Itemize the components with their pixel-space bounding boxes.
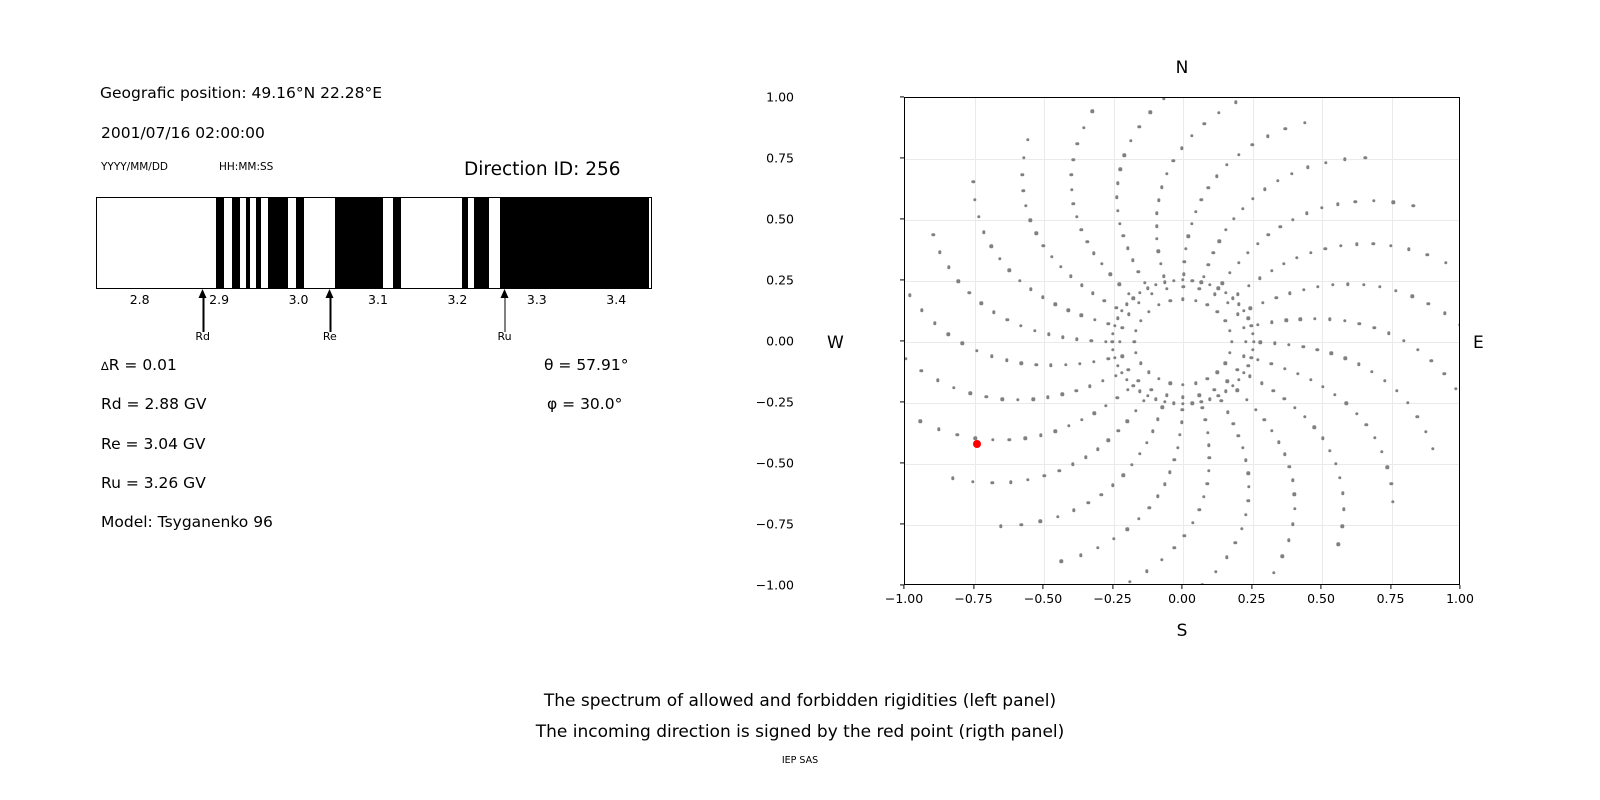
direction-point [1157,377,1160,380]
direction-point [1343,158,1346,161]
polar-y-tick-mark [900,523,904,524]
direction-point [1247,485,1250,488]
direction-point [1240,527,1243,530]
polar-y-tick-label: 0.50 [766,212,794,227]
direction-point [1231,384,1234,387]
direction-point [1334,462,1337,465]
direction-point [968,291,971,294]
param-text: R = 0.01 [109,356,177,374]
direction-point [1357,363,1360,366]
direction-point [1206,377,1209,380]
direction-point [937,428,940,431]
direction-point [1244,459,1247,462]
direction-point [1302,288,1305,291]
direction-point [1341,492,1344,495]
direction-point [1075,389,1078,392]
direction-point [1039,434,1042,437]
direction-point [1076,142,1079,145]
direction-point [1283,397,1286,400]
direction-point [1295,256,1298,259]
direction-point [1373,326,1376,329]
param-text: Model: Tsyganenko 96 [101,513,273,531]
direction-point [1293,493,1296,496]
polar-x-tick-label: −0.75 [954,591,992,606]
direction-point [1072,202,1075,205]
direction-point [1138,389,1141,392]
direction-point [1272,571,1275,574]
direction-point [1096,546,1099,549]
direction-point [1181,383,1184,386]
direction-point [1296,372,1299,375]
direction-point [1424,430,1427,433]
direction-point [1115,396,1118,399]
direction-point [1039,520,1042,523]
direction-point [1151,429,1154,432]
direction-point [1284,319,1287,322]
direction-point [1026,478,1029,481]
direction-point [1020,361,1023,364]
direction-point [936,379,939,382]
direction-point [1331,283,1334,286]
direction-point [1454,387,1457,390]
direction-point [1252,340,1255,343]
compass-label-south: S [1177,621,1188,641]
direction-point [1324,247,1327,250]
direction-point [1278,225,1281,228]
polar-y-tick-mark [900,157,904,158]
polar-y-tick-label: −0.25 [756,395,794,410]
direction-point [1228,329,1231,332]
direction-point [1270,429,1273,432]
direction-point [1079,554,1082,557]
direction-point [1246,251,1249,254]
direction-point [1333,393,1336,396]
direction-point [1128,580,1131,583]
direction-point [1154,397,1157,400]
gridline-horizontal [905,342,1459,343]
direction-point [1224,228,1227,231]
direction-point [1247,284,1250,287]
direction-point [1019,324,1022,327]
direction-point [1072,509,1075,512]
param-rd: Rd = 2.88 GV [101,395,207,413]
direction-point [1223,362,1226,365]
direction-point [1206,303,1209,306]
caption-line-1: The spectrum of allowed and forbidden ri… [0,686,1600,717]
param-prefix: ∆ [101,359,109,373]
direction-point [1116,209,1119,212]
direction-point [1287,538,1290,541]
direction-point [1277,440,1280,443]
direction-point [1291,479,1294,482]
direction-point [1324,161,1327,164]
direction-point [1059,265,1062,268]
direction-point [989,245,992,248]
direction-point [904,357,907,360]
direction-point [1218,240,1221,243]
direction-point [957,279,960,282]
direction-point [1251,348,1254,351]
polar-y-tick-mark [900,401,904,402]
direction-point [1200,280,1203,283]
direction-point [946,333,949,336]
direction-point [920,309,923,312]
direction-point [1155,237,1158,240]
direction-point [1033,329,1036,332]
direction-point [1281,555,1284,558]
polar-x-tick-mark [1112,585,1113,589]
direction-point [977,215,980,218]
direction-point [1202,275,1205,278]
param-text: Ru = 3.26 GV [101,474,206,492]
direction-point [1276,179,1279,182]
gridline-vertical [1392,98,1393,584]
direction-point [1172,159,1175,162]
direction-point [1273,342,1276,345]
direction-point [1241,207,1244,210]
direction-point [1147,310,1150,313]
direction-point [1107,322,1110,325]
direction-point [1267,233,1270,236]
direction-point [1032,397,1035,400]
time-format-hint: HH:MM:SS [219,161,273,173]
arrow-shaft [203,296,204,332]
direction-point [1338,476,1341,479]
direction-point [1191,402,1194,405]
direction-point [1430,359,1433,362]
gridline-vertical [1183,98,1184,584]
direction-point [1407,247,1410,250]
direction-point [1226,301,1229,304]
direction-point [1113,324,1116,327]
direction-point [1217,394,1220,397]
polar-x-tick-label: 0.75 [1377,591,1405,606]
direction-point [1057,469,1060,472]
direction-point [1244,340,1247,343]
caption-line-2: The incoming direction is signed by the … [0,717,1600,748]
direction-point [1263,188,1266,191]
direction-point [1162,97,1165,100]
direction-point [1197,394,1200,397]
gridline-vertical [975,98,976,584]
direction-point [1290,172,1293,175]
direction-point [1155,224,1158,227]
direction-point [1251,197,1254,200]
direction-point [1130,463,1133,466]
direction-point [1145,570,1148,573]
gridline-vertical [1322,98,1323,584]
polar-y-tick-mark [900,340,904,341]
direction-point [1101,379,1104,382]
direction-point [1005,318,1008,321]
direction-point [1343,319,1346,322]
direction-point [1412,204,1415,207]
direction-point [1346,282,1349,285]
direction-point [1134,409,1137,412]
direction-point [1127,313,1130,316]
geographic-position-label: Geografic position: 49.16°N 22.28°E [100,84,382,102]
direction-point [1046,396,1049,399]
direction-point [1254,408,1257,411]
direction-point [1054,302,1057,305]
forbidden-band [232,198,240,288]
polar-x-tick-mark [1181,585,1182,589]
direction-point [1208,456,1211,459]
direction-point [1302,345,1305,348]
polar-x-tick-label: 0.00 [1168,591,1196,606]
direction-scatter-plot [904,97,1460,585]
direction-point [931,233,934,236]
direction-point [1061,393,1064,396]
direction-point [1067,424,1070,427]
direction-point [1016,398,1019,401]
direction-point [1226,411,1229,414]
direction-point [1204,418,1207,421]
direction-point [1071,463,1074,466]
direction-point [1213,388,1216,391]
marker-re: Re [330,289,331,332]
direction-point [1160,558,1163,561]
direction-point [1316,348,1319,351]
marker-label: Rd [195,330,210,343]
direction-point [1181,285,1184,288]
direction-point [1178,433,1181,436]
direction-point [1049,364,1052,367]
forbidden-band [296,198,304,288]
compass-label-west: W [827,333,844,353]
direction-point [1091,110,1094,113]
direction-point [1106,357,1109,360]
param-text: Rd = 2.88 GV [101,395,207,413]
gridline-horizontal [905,159,1459,160]
direction-point [1080,418,1083,421]
polar-y-tick-mark [900,96,904,97]
direction-point [1459,323,1460,326]
polar-x-tick-label: 0.50 [1307,591,1335,606]
direction-point [1142,399,1145,402]
direction-point [1069,275,1072,278]
direction-point [1168,471,1171,474]
direction-point [1241,446,1244,449]
direction-point [1080,314,1083,317]
direction-point [1194,210,1197,213]
polar-y-tick-mark [900,218,904,219]
direction-point [1395,389,1398,392]
direction-point [1087,501,1090,504]
direction-point [1150,292,1153,295]
polar-y-tick-label: −1.00 [756,578,794,593]
direction-point [1443,311,1446,314]
direction-point [1181,396,1184,399]
direction-point [1225,163,1228,166]
direction-point [1093,318,1096,321]
direction-point [1126,247,1129,250]
polar-y-tick-label: −0.50 [756,456,794,471]
direction-point [1075,215,1078,218]
direction-point [1190,134,1193,137]
direction-point [1070,173,1073,176]
direction-point [1154,283,1157,286]
marker-label: Re [323,330,337,343]
param-ru: Ru = 3.26 GV [101,474,206,492]
direction-point [982,230,985,233]
direction-point [952,386,955,389]
direction-point [1059,560,1062,563]
direction-point [1092,360,1095,363]
selected-direction-point[interactable] [973,440,981,448]
direction-point [1215,174,1218,177]
direction-point [1137,379,1140,382]
direction-point [1047,333,1050,336]
direction-point [1187,235,1190,238]
direction-point [1131,258,1134,261]
direction-point [991,481,994,484]
direction-point [1156,418,1159,421]
direction-point [1391,500,1394,503]
gridline-horizontal [905,220,1459,221]
direction-point [1246,472,1249,475]
direction-point [1427,302,1430,305]
direction-point [1169,299,1172,302]
marker-ru: Ru [505,289,506,332]
direction-point [1248,375,1251,378]
direction-point [1287,343,1290,346]
direction-point [1067,308,1070,311]
direction-point [1118,340,1121,343]
compass-label-north: N [1176,58,1189,78]
direction-point [1008,269,1011,272]
direction-point [1118,222,1121,225]
direction-point [1416,415,1419,418]
direction-point [1316,285,1319,288]
direction-point [1224,389,1227,392]
direction-point [1406,401,1409,404]
direction-point [1080,228,1083,231]
direction-point [1217,287,1220,290]
polar-y-tick-label: 0.75 [766,151,794,166]
direction-point [1213,292,1216,295]
polar-x-tick-mark [1251,585,1252,589]
direction-point [1120,309,1123,312]
direction-point [1075,338,1078,341]
direction-point [1236,368,1239,371]
direction-point [1184,247,1187,250]
direction-point [1088,385,1091,388]
direction-point [1029,288,1032,291]
direction-point [1120,371,1123,374]
direction-point [1080,283,1083,286]
direction-point [1159,262,1162,265]
forbidden-band [474,198,488,288]
direction-point [1115,306,1118,309]
direction-point [1190,222,1193,225]
direction-point [1100,493,1103,496]
direction-point [1163,280,1166,283]
direction-point [1246,364,1249,367]
direction-point [1165,287,1168,290]
marker-rd: Rd [203,289,204,332]
direction-point [1117,429,1120,432]
direction-point [1138,291,1141,294]
direction-point [1236,293,1239,296]
direction-point [955,433,958,436]
direction-point [1341,525,1344,528]
direction-point [1134,329,1137,332]
direction-point [1070,188,1073,191]
direction-point [1131,297,1134,300]
direction-point [961,342,964,345]
direction-point [1005,359,1008,362]
footer-credit: IEP SAS [0,755,1600,766]
direction-point [918,420,921,423]
direction-point [1181,298,1184,301]
direction-point [1208,283,1211,286]
polar-x-tick-mark [1042,585,1043,589]
direction-point [1237,261,1240,264]
direction-point [1305,212,1308,215]
forbidden-band [335,198,383,288]
direction-point [1256,358,1259,361]
direction-point [1336,202,1339,205]
direction-point [1131,384,1134,387]
direction-point [1163,483,1166,486]
direction-point [1391,201,1394,204]
direction-point [1194,382,1197,385]
direction-point [1147,370,1150,373]
direction-point [1220,282,1223,285]
direction-point [1354,200,1357,203]
direction-point [1009,481,1012,484]
direction-point [1126,420,1129,423]
direction-point [1123,154,1126,157]
direction-point [1288,465,1291,468]
direction-point [991,438,994,441]
direction-point [1365,423,1368,426]
direction-point [985,395,988,398]
direction-point [1133,340,1136,343]
direction-point [1237,153,1240,156]
direction-point [1035,363,1038,366]
param-text: φ = 30.0° [547,395,622,413]
direction-point [1160,185,1163,188]
direction-point [1358,322,1361,325]
direction-point [1246,317,1249,320]
direction-point [1330,352,1333,355]
param-theta: θ = 57.91° [544,356,628,374]
direction-point [1103,299,1106,302]
direction-point [1226,379,1229,382]
direction-point [1146,287,1149,290]
direction-point [1145,441,1148,444]
direction-point [1410,294,1413,297]
direction-point [1231,297,1234,300]
direction-point [973,198,976,201]
direction-point [1249,307,1252,310]
direction-point [1251,332,1254,335]
direction-point [1024,437,1027,440]
direction-point [1258,276,1261,279]
direction-point [1313,317,1316,320]
direction-point [1299,318,1302,321]
direction-point [1085,240,1088,243]
direction-point [1275,296,1278,299]
direction-point [1206,431,1209,434]
direction-point [1120,355,1123,358]
direction-point [1109,273,1112,276]
param-text: θ = 57.91° [544,356,628,374]
direction-point [951,477,954,480]
forbidden-band [246,198,251,288]
